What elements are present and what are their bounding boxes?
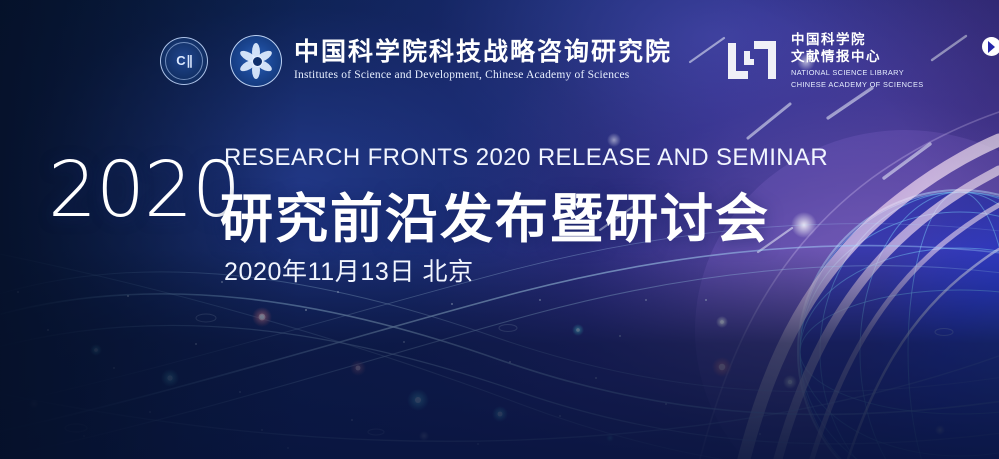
logo-isd-seal: C ∥	[160, 37, 208, 85]
chinese-title: 研究前沿发布暨研讨会	[220, 177, 770, 253]
isd-seal-mark: C ∥	[176, 53, 192, 69]
year-display: 2020	[48, 152, 240, 229]
date-location: 2020年11月13日 北京	[224, 252, 474, 288]
nsl-en-line2: CHINESE ACADEMY OF SCIENCES	[791, 80, 924, 90]
cas-en-name: Institutes of Science and Development, C…	[294, 69, 672, 81]
nsl-mark-icon	[724, 37, 782, 85]
event-banner: C ∥ 中国科学院科技战略咨询研究院 Institutes of Science…	[0, 0, 999, 459]
logo-nsl: 中国科学院 文献情报中心 NATIONAL SCIENCE LIBRARY CH…	[724, 32, 924, 90]
nsl-en-line1: NATIONAL SCIENCE LIBRARY	[791, 68, 924, 78]
cas-cn-name: 中国科学院科技战略咨询研究院	[294, 40, 672, 66]
cas-flower-icon	[230, 35, 282, 87]
clarivate-mark-icon	[982, 37, 999, 56]
logo-clarivate: Clarivate ™ 科睿唯安 ™	[982, 34, 999, 87]
logo-cas-isd: 中国科学院科技战略咨询研究院 Institutes of Science and…	[208, 35, 672, 87]
logo-bar: C ∥ 中国科学院科技战略咨询研究院 Institutes of Science…	[160, 32, 999, 90]
nsl-cn-line1: 中国科学院	[791, 32, 924, 49]
isd-seal-icon: C ∥	[160, 37, 208, 85]
nsl-cn-line2: 文献情报中心	[791, 49, 924, 66]
english-title: RESEARCH FRONTS 2020 RELEASE AND SEMINAR	[224, 144, 828, 172]
